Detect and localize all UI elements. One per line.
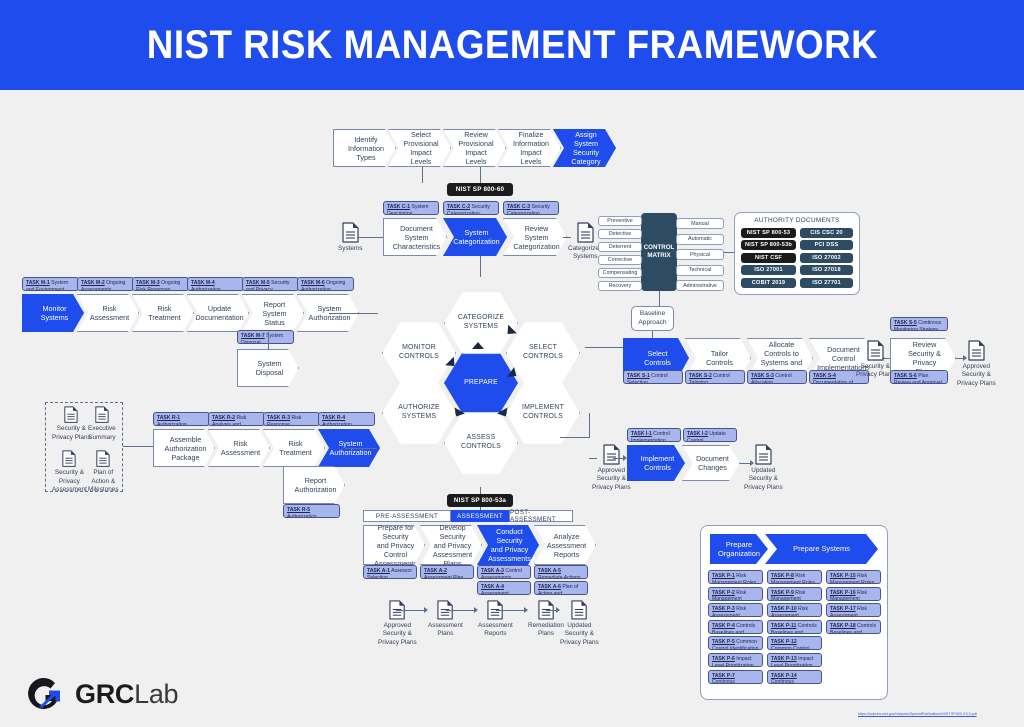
connector-line	[268, 332, 269, 350]
authorize-input-document-3: Security &PrivacyAssessment	[52, 450, 87, 494]
categorize-step-2[interactable]: SystemCategorization	[443, 218, 507, 256]
control-matrix-left-6[interactable]: Recovery	[598, 281, 642, 291]
wheel-direction-arrow-1	[472, 342, 484, 349]
implement-task-1[interactable]: TASK I-1 Control Implementation	[627, 428, 681, 442]
select-task-6[interactable]: TASK S-6 Plan Review and Approval	[890, 370, 948, 384]
monitor-task-1[interactable]: TASK M-1 System and Environment Changes	[22, 277, 79, 291]
prepare-task-p-14[interactable]: TASK P-14 Continous Monitoring Strategy	[767, 670, 822, 684]
security-privacy-plans-document: Security &Privacy Plans	[856, 340, 895, 380]
connector-line	[585, 347, 623, 348]
control-matrix-right-4[interactable]: Technical	[676, 265, 724, 276]
implement-task-2[interactable]: TASK I-2 Update Control Implementation I…	[683, 428, 737, 442]
categorize-task-2[interactable]: TASK C-2 Security Categorization	[443, 201, 499, 215]
connector-line	[329, 313, 375, 314]
approved-plans-document: ApprovedSecurity &Privacy Plans	[957, 340, 996, 388]
prepare-task-p-17[interactable]: TASK P-17 Risk Assessment Organization	[826, 603, 881, 617]
logo-sub: Lab	[134, 679, 178, 709]
connector-line	[560, 437, 590, 438]
document-caption: AssessmentReports	[478, 622, 513, 639]
authorize-input-document-1: Security &Privacy Plans	[52, 406, 91, 442]
prepare-task-p-6[interactable]: TASK P-6 Impact Level Prioritization	[708, 653, 763, 667]
assess-document-5: UpdatedSecurity &Privacy Plans	[560, 600, 599, 647]
prepare-task-p-8[interactable]: TASK P-8 Risk Management Roles	[767, 570, 822, 584]
prepare-task-p-1[interactable]: TASK P-1 Risk Management Roles	[708, 570, 763, 584]
document-caption: ApprovedSecurity &Privacy Plans	[957, 363, 996, 388]
assess-task-1[interactable]: TASK A-1 Assessor Selection	[363, 565, 417, 579]
connector-line	[446, 610, 476, 611]
prepare-task-p-12[interactable]: TASK P-12 Common Control Identification	[767, 636, 822, 650]
assess-task-4[interactable]: TASK A-4 Assessment Reports	[477, 581, 531, 595]
source-url-link[interactable]: https://nvlpubs.nist.gov/nistpubs/Specia…	[858, 712, 977, 716]
prepare-task-p-5[interactable]: TASK P-5 Common Control Identification	[708, 636, 763, 650]
assess-step-3[interactable]: Conduct Securityand PrivacyAssessments	[477, 525, 539, 565]
authorize-task-4[interactable]: TASK R-4 Authorization Decision	[318, 412, 375, 426]
document-icon	[968, 340, 985, 361]
authority-pill-left-2[interactable]: NIST SP 800-53b	[741, 240, 796, 250]
grclab-logo: GRCLab	[22, 672, 178, 716]
authority-pill-right-5[interactable]: ISO 27701	[800, 278, 853, 288]
connector-line	[496, 610, 526, 611]
document-icon	[867, 340, 884, 361]
document-icon	[64, 406, 78, 423]
document-icon	[96, 450, 110, 467]
document-caption: UpdatedSecurity &Privacy Plans	[560, 622, 599, 647]
document-caption: ExecutiveSummary	[88, 425, 116, 442]
authorize-step-1[interactable]: AssembleAuthorizationPackage	[153, 429, 215, 467]
monitor-step-5[interactable]: ReportSystem Status	[242, 294, 304, 332]
prepare-task-p-13[interactable]: TASK P-13 Impact Level Prioritization	[767, 653, 822, 667]
monitor-step-4[interactable]: UpdateDocumentation	[187, 294, 249, 332]
select-task-2[interactable]: TASK S-2 Control Tailoring	[685, 370, 745, 384]
select-task-3[interactable]: TASK S-3 Control Allocation	[747, 370, 807, 384]
assess-task-3[interactable]: TASK A-3 Control Assessments	[477, 565, 531, 579]
select-task-5[interactable]: TASK S-5 Continous Monitoring Strategy	[890, 317, 948, 331]
implement-step-1[interactable]: ImplementControls	[627, 445, 685, 481]
logo-main: GRC	[75, 679, 134, 709]
prepare-task-p-2[interactable]: TASK P-2 Risk Management Strategy	[708, 587, 763, 601]
control-matrix-right-5[interactable]: Administrative	[676, 280, 724, 291]
prepare-task-p-15[interactable]: TASK P-15 Risk Management Roles	[826, 570, 881, 584]
monitor-step-1[interactable]: Monitor Systems	[22, 294, 84, 332]
document-icon	[577, 222, 594, 243]
prepare-task-p-11[interactable]: TASK P-11 Controls Baselines and Profile…	[767, 620, 822, 634]
authorize-task-3[interactable]: TASK R-3 Risk Response	[263, 412, 320, 426]
assess-document-4: RemediationPlans	[528, 600, 564, 639]
connector-line	[480, 259, 481, 277]
control-matrix-right-3[interactable]: Physical	[676, 249, 724, 260]
authorize-input-document-2: ExecutiveSummary	[88, 406, 116, 442]
wheel-hex-implement-controls[interactable]: IMPLEMENTCONTROLS	[506, 381, 580, 445]
categorize-task-1[interactable]: TASK C-1 System Description	[383, 201, 439, 215]
connector-line	[123, 446, 153, 447]
document-caption: Security &Privacy Plans	[856, 363, 895, 380]
authority-pill-left-5[interactable]: COBIT 2019	[741, 278, 796, 288]
control-matrix-core: CONTROLMATRIX	[641, 213, 677, 291]
document-caption: ApprovedSecurity &Privacy Plans	[378, 622, 417, 647]
assess-step-4[interactable]: AnalyzeAssessmentReports	[534, 525, 596, 565]
document-caption: AssessmentPlans	[428, 622, 463, 639]
monitor-task-4[interactable]: TASK M-4 Authorization Package Updates	[187, 277, 244, 291]
control-matrix-left-2[interactable]: Detective	[598, 229, 642, 239]
prepare-task-p-10[interactable]: TASK P-10 Risk Assessment Organization	[767, 603, 822, 617]
document-icon	[95, 406, 109, 423]
assess-task-2[interactable]: TASK A-2 Assessment Plan	[420, 565, 474, 579]
monitor-step-3[interactable]: Risk Treatment	[132, 294, 194, 332]
authority-documents-title: AUTHORITY DOCUMENTS	[734, 217, 860, 224]
assess-step-1[interactable]: Prepare for Securityand PrivacyControlAs…	[363, 525, 425, 565]
document-caption: Security &PrivacyAssessment	[52, 469, 87, 494]
control-matrix-left-5[interactable]: Compensating	[598, 268, 642, 278]
connector-line	[357, 237, 383, 238]
document-caption: UpdatedSecurity &Privacy Plans	[744, 467, 783, 492]
grclab-mark-icon	[22, 672, 66, 716]
categorize-task-3[interactable]: TASK C-3 Security Categorization Review …	[503, 201, 559, 215]
monitor-task-6[interactable]: TASK M-6 Ongoing Authorization	[297, 277, 354, 291]
categorize-top-step-1[interactable]: IdentifyInformationTypes	[333, 129, 396, 167]
implement-input-document: ApprovedSecurity &Privacy Plans	[592, 444, 631, 492]
authority-pill-left-1[interactable]: NIST SP 800-53	[741, 228, 796, 238]
nist-sp-800-53a-chip: NIST SP 800-53a	[447, 494, 513, 507]
prepare-task-p-7[interactable]: TASK P-7 Continous Monitoring Strategy	[708, 670, 763, 684]
implement-step-2[interactable]: DocumentChanges	[682, 445, 740, 481]
connector-line	[480, 167, 481, 183]
wheel-hex-monitor-controls[interactable]: MONITORCONTROLS	[382, 321, 456, 385]
prepare-task-p-18[interactable]: TASK P-18 Controls Baselines and Profile…	[826, 620, 881, 634]
assess-phase-3[interactable]: POST-ASSESSMENT	[509, 510, 573, 522]
wheel-hex-assess-controls[interactable]: ASSESSCONTROLS	[444, 411, 518, 475]
monitor-task-5[interactable]: TASK M-5 Security and Privacy Reporting	[242, 277, 299, 291]
document-icon	[571, 600, 587, 620]
monitor-system-disposal-step[interactable]: System Disposal	[237, 349, 299, 387]
document-caption: Systems	[338, 245, 363, 253]
document-caption: ApprovedSecurity &Privacy Plans	[592, 467, 631, 492]
prepare-task-p-16[interactable]: TASK P-16 Risk Management Strategy	[826, 587, 881, 601]
categorize-top-step-5[interactable]: Assign SystemSecurity Category	[553, 129, 616, 167]
select-task-1[interactable]: TASK S-1 Control Selection	[623, 370, 683, 384]
connector-line	[589, 413, 590, 437]
control-matrix-left-3[interactable]: Deterrent	[598, 242, 642, 252]
arrow-head	[623, 455, 627, 461]
monitor-task-2[interactable]: TASK M-2 Ongoing Assessments	[77, 277, 134, 291]
control-matrix-right-1[interactable]: Manual	[676, 218, 724, 229]
categorize-step-1[interactable]: DocumentSystemCharacteristics	[383, 218, 447, 256]
document-icon	[755, 444, 772, 465]
authority-pill-right-4[interactable]: ISO 27018	[800, 265, 853, 275]
assess-phase-2[interactable]: ASSESSMENT	[451, 510, 509, 522]
connector-line	[345, 448, 377, 449]
control-matrix-right-2[interactable]: Automatic	[676, 234, 724, 245]
prepare-task-p-3[interactable]: TASK P-3 Risk Assessment Organization	[708, 603, 763, 617]
wheel-hex-authorize-systems[interactable]: AUTHORIZESYSTEMS	[382, 381, 456, 445]
monitor-step-2[interactable]: Risk Assessment	[77, 294, 139, 332]
authority-pill-left-4[interactable]: ISO 27001	[741, 265, 796, 275]
document-icon	[603, 444, 620, 465]
assess-document-3: AssessmentReports	[478, 600, 513, 639]
authority-pill-right-1[interactable]: CIS CSC 20	[800, 228, 853, 238]
assess-document-1: ApprovedSecurity &Privacy Plans	[378, 600, 417, 647]
prepare-organization-header[interactable]: PrepareOrganization	[710, 534, 768, 564]
assess-task-6[interactable]: TASK A-6 Plan of Action and Milestones	[534, 581, 588, 595]
assess-step-2[interactable]: Develop Securityand PrivacyAssessment Pl…	[420, 525, 482, 565]
connector-line	[422, 167, 423, 183]
authorize-report-step[interactable]: ReportAuthorization	[283, 466, 345, 504]
prepare-systems-header[interactable]: Prepare Systems	[765, 534, 878, 564]
grclab-wordmark: GRCLab	[75, 679, 178, 710]
authorize-task-1[interactable]: TASK R-1 Authorization Package	[153, 412, 210, 426]
baseline-approach-box[interactable]: BaselineApproach	[631, 306, 674, 331]
control-matrix-left-1[interactable]: Preventive	[598, 216, 642, 226]
monitor-task-3[interactable]: TASK M-3 Ongoing Risk Response	[132, 277, 189, 291]
assess-document-2: AssessmentPlans	[428, 600, 463, 639]
document-icon	[62, 450, 76, 467]
categorize-step-3[interactable]: Review SystemCategorization	[503, 218, 567, 256]
wheel-hex-select-controls[interactable]: SELECTCONTROLS	[506, 321, 580, 385]
connector-line	[724, 252, 734, 253]
page-header: NIST RISK MANAGEMENT FRAMEWORK	[0, 0, 1024, 90]
page-title: NIST RISK MANAGEMENT FRAMEWORK	[146, 23, 877, 68]
categorize-top-step-2[interactable]: SelectProvisionalImpact Levels	[388, 129, 451, 167]
control-matrix-left-4[interactable]: Corrective	[598, 255, 642, 265]
implement-output-document: UpdatedSecurity &Privacy Plans	[744, 444, 783, 492]
monitor-task-7[interactable]: TASK M-7 System Disposal	[237, 330, 294, 344]
authorize-task-2[interactable]: TASK R-2 Risk Analysis and Determination	[208, 412, 265, 426]
authority-pill-right-3[interactable]: ISO 27002	[800, 253, 853, 263]
authorize-task-5[interactable]: TASK R-5 Authorization Reporting	[283, 504, 340, 518]
document-caption: Security &Privacy Plans	[52, 425, 91, 442]
document-caption: Plan ofAction &Milestones	[88, 469, 119, 494]
authority-pill-left-3[interactable]: NIST CSF	[741, 253, 796, 263]
assess-phase-1[interactable]: PRE-ASSESSMENT	[363, 510, 451, 522]
prepare-task-p-9[interactable]: TASK P-9 Risk Management Strategy	[767, 587, 822, 601]
authority-pill-right-2[interactable]: PCI DSS	[800, 240, 853, 250]
authorize-step-2[interactable]: Risk Assessment	[208, 429, 270, 467]
prepare-task-p-4[interactable]: TASK P-4 Controls Baselines and Profiles	[708, 620, 763, 634]
authorize-input-document-4: Plan ofAction &Milestones	[88, 450, 119, 494]
categorize-top-step-4[interactable]: FinalizeInformationImpact Levels	[498, 129, 561, 167]
connector-line	[396, 610, 426, 611]
document-icon	[342, 222, 359, 243]
categorize-top-step-3[interactable]: ReviewProvisionalImpact Levels	[443, 129, 506, 167]
assess-task-5[interactable]: TASK A-5 Remediate Actions	[534, 565, 588, 579]
document-caption: RemediationPlans	[528, 622, 564, 639]
nist-sp-800-60-chip: NIST SP 800-60	[447, 183, 513, 196]
authorize-step-3[interactable]: Risk Treatment	[263, 429, 325, 467]
